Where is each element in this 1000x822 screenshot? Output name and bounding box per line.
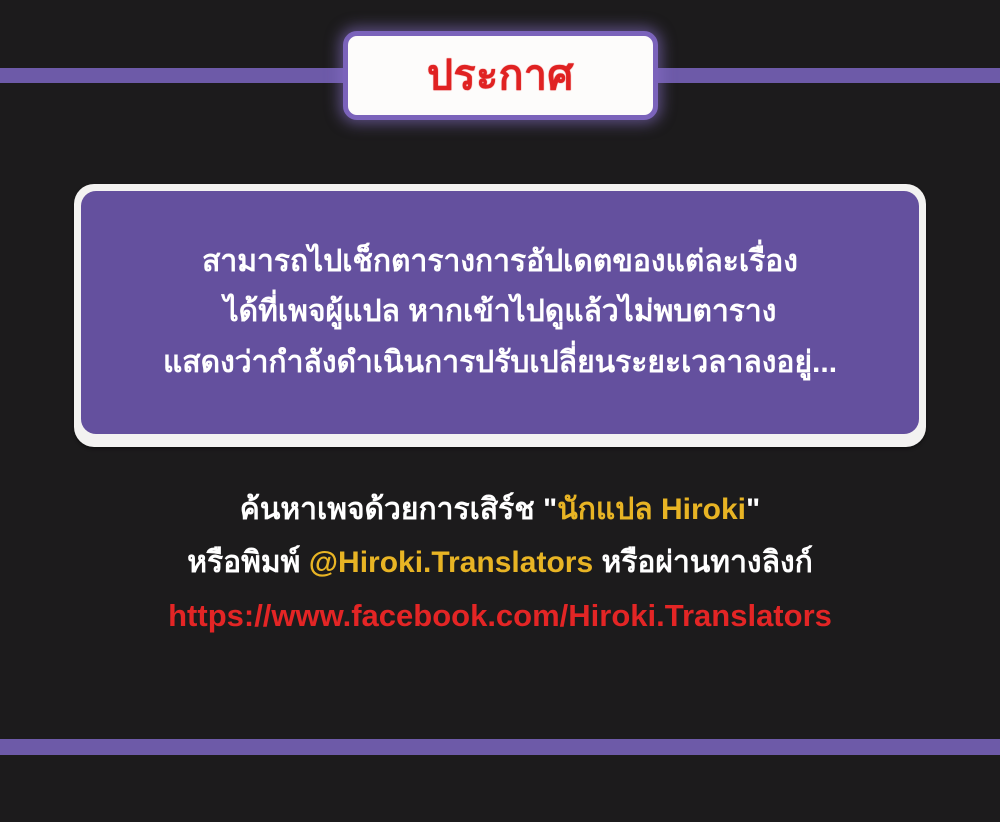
announcement-line: แสดงว่ากำลังดำเนินการปรับเปลี่ยนระยะเวลา… (163, 342, 837, 385)
quote-open: " (543, 493, 557, 526)
quote-close: " (746, 493, 760, 526)
announcement-card-body: สามารถไปเช็กตารางการอัปเดตของแต่ละเรื่อง… (81, 191, 919, 434)
handle-instruction-prefix: หรือพิมพ์ (187, 546, 300, 579)
handle-instruction-line: หรือพิมพ์ @Hiroki.Translators หรือผ่านทา… (187, 543, 813, 582)
header-region: ประกาศ (0, 0, 1000, 150)
page-name-highlight: นักแปล Hiroki (557, 493, 746, 526)
divider-rule-bottom (0, 739, 1000, 755)
announcement-line: สามารถไปเช็กตารางการอัปเดตของแต่ละเรื่อง (202, 241, 798, 284)
announcement-card: สามารถไปเช็กตารางการอัปเดตของแต่ละเรื่อง… (74, 184, 926, 447)
facebook-url-link[interactable]: https://www.facebook.com/Hiroki.Translat… (168, 596, 832, 636)
announcement-header-plaque: ประกาศ (343, 31, 658, 120)
search-instruction-prefix: ค้นหาเพจด้วยการเสิร์ช (240, 493, 535, 526)
search-instruction-line: ค้นหาเพจด้วยการเสิร์ช "นักแปล Hiroki" (240, 490, 760, 529)
page-title: ประกาศ (427, 55, 574, 96)
contact-info-block: ค้นหาเพจด้วยการเสิร์ช "นักแปล Hiroki" หร… (0, 490, 1000, 636)
announcement-line: ได้ที่เพจผู้แปล หากเข้าไปดูแล้วไม่พบตารา… (224, 291, 777, 334)
handle-instruction-suffix: หรือผ่านทางลิงก์ (601, 546, 812, 579)
facebook-handle[interactable]: @Hiroki.Translators (309, 546, 593, 579)
